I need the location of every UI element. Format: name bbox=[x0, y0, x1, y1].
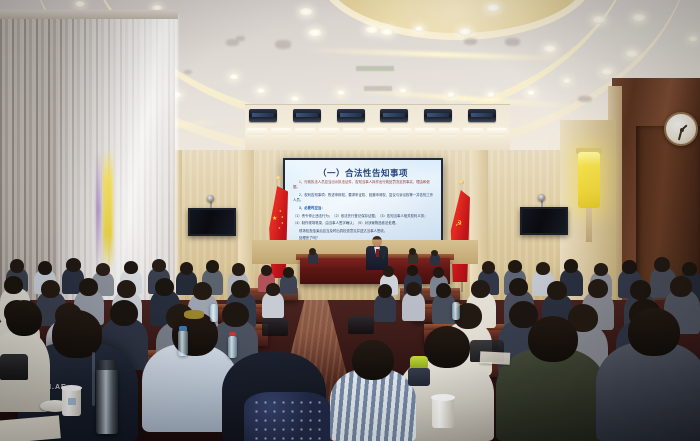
presenter-tie bbox=[376, 249, 379, 257]
audience-head bbox=[406, 282, 421, 296]
slide-line: 1、行政执法人员应当出示执法证件，告知当事人拟作出行政处罚决定的事实、理由和依据… bbox=[293, 180, 434, 191]
flag-star: ★ bbox=[272, 216, 277, 222]
audience-member bbox=[402, 292, 425, 321]
water-bottle bbox=[178, 330, 188, 356]
flag-star: ★ bbox=[281, 216, 284, 219]
ceiling-vent bbox=[275, 40, 291, 49]
paper-cup-rim bbox=[431, 394, 455, 401]
paper-cup bbox=[432, 398, 454, 428]
curtain-rod bbox=[0, 10, 178, 19]
downlight bbox=[398, 88, 408, 94]
flag-star: ★ bbox=[279, 210, 282, 213]
hair-clip bbox=[184, 310, 204, 319]
travel-mug-body bbox=[408, 368, 430, 386]
ceiling-spotlight bbox=[293, 109, 321, 122]
downlight bbox=[486, 4, 500, 12]
audience-head bbox=[38, 261, 52, 275]
audience-head bbox=[622, 260, 637, 274]
slide-line: 3、必要时应当： bbox=[293, 206, 434, 211]
downlight bbox=[592, 16, 606, 24]
ceiling-spotlight bbox=[380, 109, 408, 122]
audience-head bbox=[564, 259, 578, 273]
foreground-person-head bbox=[6, 300, 42, 336]
downlight bbox=[625, 50, 639, 58]
ceiling-vent bbox=[464, 38, 477, 45]
audience-head bbox=[193, 282, 212, 300]
ceiling-light-panel bbox=[463, 128, 483, 135]
downlight bbox=[688, 36, 698, 42]
foreground-person-head bbox=[424, 326, 470, 368]
audience-head bbox=[383, 266, 394, 277]
audience-head bbox=[482, 261, 495, 274]
ceiling-light-panel bbox=[247, 128, 267, 135]
ceiling-light-panel bbox=[343, 128, 363, 135]
audience-head bbox=[536, 262, 550, 275]
audience-head bbox=[124, 261, 138, 274]
ceiling-light-panel bbox=[367, 128, 387, 135]
ceiling-camera-icon bbox=[538, 194, 545, 201]
downlight bbox=[299, 8, 313, 16]
audience-head bbox=[10, 259, 24, 273]
hammer-sickle-icon: ☭ bbox=[455, 220, 462, 228]
audience-head bbox=[594, 263, 608, 276]
audience-head bbox=[110, 300, 138, 326]
slide-line: 2、权利告知事项：陈述申辩权、要求听证权、回避申请权、复议与诉讼权等一并告知工作… bbox=[293, 193, 434, 204]
audience-head bbox=[231, 280, 250, 298]
ceiling-light-panel bbox=[391, 128, 411, 135]
downlight bbox=[229, 74, 239, 80]
audience-head bbox=[670, 276, 692, 297]
slide-title: （一）合法性告知事项 bbox=[285, 167, 441, 179]
audience-head bbox=[654, 257, 670, 272]
downlight bbox=[562, 78, 572, 84]
audience-head bbox=[4, 276, 23, 294]
audience-head bbox=[152, 259, 166, 272]
ceiling-light-panel bbox=[415, 128, 435, 135]
audience-head bbox=[436, 283, 451, 298]
downlight bbox=[446, 92, 456, 98]
chair-back bbox=[262, 318, 288, 336]
downlight bbox=[365, 26, 379, 34]
projection-screen: （一）合法性告知事项 1、行政执法人员应当出示执法证件，告知当事人拟作出行政处罚… bbox=[285, 160, 441, 240]
camera-arm bbox=[541, 200, 543, 207]
audience-head bbox=[155, 278, 174, 296]
flag-star: ★ bbox=[281, 222, 284, 225]
water-bottle bbox=[210, 304, 218, 322]
foreground-person-grey bbox=[596, 342, 700, 441]
ceiling-vent bbox=[184, 70, 192, 74]
audience-head bbox=[206, 260, 219, 273]
chair-back bbox=[0, 354, 28, 380]
audience-head bbox=[180, 262, 193, 275]
audience-head bbox=[261, 265, 272, 276]
thermos-cap bbox=[97, 360, 117, 370]
audience-head bbox=[547, 281, 567, 300]
foreground-person-head bbox=[628, 308, 680, 356]
jacket-zip bbox=[92, 352, 95, 406]
downlight bbox=[256, 88, 266, 94]
paper-cup-rim bbox=[61, 385, 82, 391]
downlight bbox=[458, 28, 472, 36]
downlight bbox=[600, 68, 614, 76]
audience-head bbox=[66, 258, 81, 272]
ceiling-vent bbox=[578, 96, 592, 102]
thermos-flask bbox=[96, 368, 118, 434]
ceiling-vent bbox=[226, 39, 239, 46]
bottle-cap bbox=[229, 332, 236, 336]
notepad bbox=[0, 415, 61, 441]
curtain-accent-purple bbox=[96, 150, 101, 270]
ceiling-light-panel bbox=[271, 128, 291, 135]
audience-head bbox=[509, 278, 528, 296]
ceiling-light-panel bbox=[295, 128, 315, 135]
downlight bbox=[75, 1, 85, 7]
bottle-cap bbox=[179, 326, 187, 331]
audience-head bbox=[117, 280, 136, 298]
audience-head bbox=[266, 283, 280, 296]
audience-head bbox=[630, 280, 651, 300]
downlight bbox=[336, 90, 346, 96]
clock-center bbox=[680, 128, 684, 132]
audience-head bbox=[508, 260, 522, 273]
water-bottle bbox=[452, 302, 460, 320]
projection-screen-frame: （一）合法性告知事项 1、行政执法人员应当出示执法证件，告知当事人拟作出行政处罚… bbox=[283, 158, 443, 242]
water-bottle bbox=[228, 336, 237, 358]
ceiling-spotlight bbox=[337, 109, 365, 122]
ceiling-light-panel bbox=[439, 128, 459, 135]
audience-head bbox=[222, 302, 249, 327]
camera-arm bbox=[210, 201, 212, 208]
audience-head bbox=[378, 284, 392, 298]
wall-sconce-light bbox=[578, 152, 600, 208]
audience-head bbox=[41, 280, 60, 298]
audience-head bbox=[433, 267, 444, 278]
wall-monitor-left[interactable] bbox=[188, 208, 236, 236]
audience-head bbox=[682, 262, 697, 276]
downlight bbox=[526, 90, 536, 96]
ceiling-spotlight bbox=[424, 109, 452, 122]
downlight bbox=[414, 26, 424, 32]
presenter-head bbox=[372, 236, 382, 247]
stage-attendee-head bbox=[431, 250, 438, 256]
audience-head bbox=[407, 265, 418, 276]
document-page bbox=[480, 351, 511, 365]
slide-line: （4）制作现场笔录，由当事人签字确认；（5）对涉案物品依法处理。 bbox=[293, 221, 434, 226]
audience-member bbox=[374, 294, 396, 322]
polka-dot-pattern bbox=[252, 398, 324, 440]
ceiling-spotlight bbox=[249, 109, 277, 122]
ceiling-spotlight bbox=[468, 109, 496, 122]
slide-line: 现场检查结束后应当及时出具检查意见并送达当事人签收。 bbox=[293, 229, 434, 234]
foreground-person-head bbox=[528, 316, 578, 362]
slide-body: 1、行政执法人员应当出示执法证件，告知当事人拟作出行政处罚决定的事实、理由和依据… bbox=[293, 180, 434, 240]
audience-head bbox=[96, 263, 110, 276]
ceiling-grille bbox=[356, 66, 394, 71]
downlight bbox=[308, 29, 322, 37]
ceiling-light-panel bbox=[487, 128, 507, 135]
wall-clock-icon bbox=[664, 112, 698, 146]
stage-attendee-head bbox=[409, 248, 416, 255]
foreground-person-head bbox=[52, 310, 102, 358]
downlight bbox=[380, 28, 394, 36]
cup-logo bbox=[68, 398, 76, 405]
wall-monitor-right[interactable] bbox=[520, 207, 568, 235]
foreground-person-head bbox=[352, 340, 394, 380]
ceiling-vent bbox=[505, 38, 520, 46]
ceiling-grille bbox=[364, 86, 392, 91]
audience-head bbox=[588, 279, 608, 298]
sconce-stem bbox=[586, 208, 592, 242]
curtain-accent-gold bbox=[103, 148, 113, 272]
audience-head bbox=[471, 280, 490, 298]
spotlight-rail bbox=[245, 104, 510, 151]
audience-head bbox=[232, 263, 245, 276]
chair-back bbox=[348, 316, 374, 334]
audience-head bbox=[283, 267, 294, 278]
audience-head bbox=[79, 278, 98, 296]
downlight bbox=[632, 14, 646, 22]
downlight bbox=[543, 45, 557, 53]
downlight bbox=[290, 96, 300, 102]
ceiling-camera-icon bbox=[207, 195, 214, 202]
conference-hall-photo: （一）合法性告知事项 1、行政执法人员应当出示执法证件，告知当事人拟作出行政处罚… bbox=[0, 0, 700, 441]
flag-star: ★ bbox=[278, 227, 281, 230]
ceiling-light-panel bbox=[319, 128, 339, 135]
slide-line: （1）责令停止违法行为；（2）依法先行登记保存证据；（3）告知当事人相关权利义务… bbox=[293, 214, 434, 219]
stage-attendee-head bbox=[309, 248, 316, 255]
downlight bbox=[486, 92, 496, 98]
presenter bbox=[366, 236, 388, 270]
